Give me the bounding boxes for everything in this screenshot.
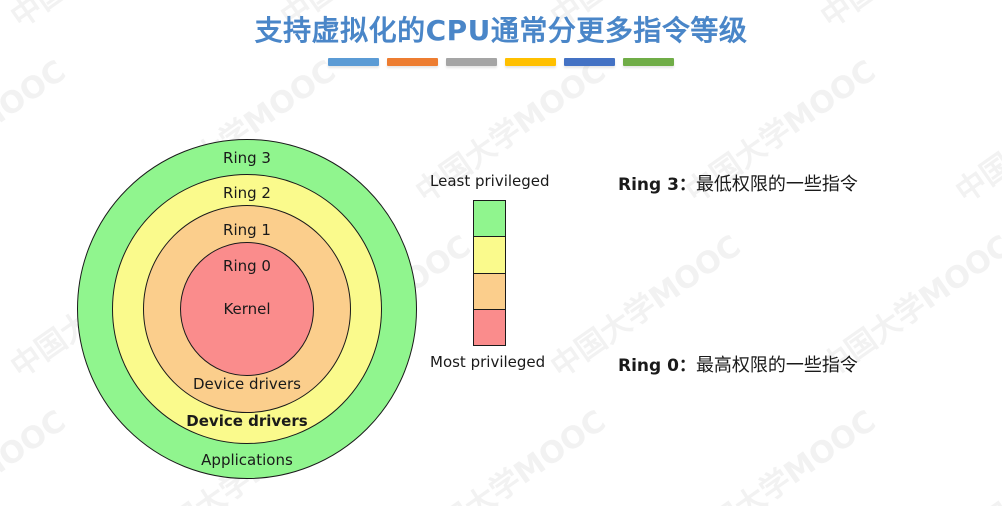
- watermark-text: 中国大学MOOC: [405, 397, 613, 506]
- note-ring-3-value: 最低权限的一些指令: [696, 174, 858, 195]
- note-ring-0-key: Ring 0：: [618, 356, 696, 376]
- title-bar-6: [623, 58, 674, 66]
- title-bar-4: [505, 58, 556, 66]
- page-title: 支持虚拟化的CPU通常分更多指令等级: [0, 14, 1002, 48]
- applications-label: Applications: [77, 451, 417, 469]
- title-bar-1: [328, 58, 379, 66]
- note-ring-0: Ring 0：最高权限的一些指令: [618, 355, 858, 378]
- title-bar-5: [564, 58, 615, 66]
- legend-cell-green: [474, 201, 505, 237]
- title-underline-bars: [0, 58, 1002, 66]
- note-ring-3: Ring 3：最低权限的一些指令: [618, 174, 858, 197]
- legend-cell-red: [474, 310, 505, 345]
- privilege-legend: Least privileged Most privileged: [430, 172, 550, 371]
- device-drivers-outer-label: Device drivers: [77, 412, 417, 430]
- watermark-text: 中国大学MOOC: [675, 397, 883, 506]
- ring-0-label: Ring 0: [77, 257, 417, 275]
- watermark-text: 中国大学MOOC: [945, 47, 1002, 211]
- kernel-label: Kernel: [77, 300, 417, 318]
- watermark-text: 中国大学MOOC: [0, 397, 73, 506]
- ring-3-label: Ring 3: [77, 149, 417, 167]
- privilege-rings-diagram: Ring 3 Ring 2 Ring 1 Ring 0 Kernel Devic…: [77, 139, 417, 479]
- legend-color-bar: [473, 200, 506, 346]
- watermark-text: 中国大学MOOC: [945, 397, 1002, 506]
- watermark-text: 中国大学MOOC: [0, 47, 73, 211]
- legend-cell-orange: [474, 274, 505, 310]
- note-ring-3-key: Ring 3：: [618, 175, 696, 195]
- title-bar-2: [387, 58, 438, 66]
- legend-most-privileged-label: Most privileged: [430, 353, 550, 371]
- device-drivers-inner-label: Device drivers: [77, 375, 417, 393]
- note-ring-0-value: 最高权限的一些指令: [696, 355, 858, 376]
- slide-canvas: 中国大学MOOC中国大学MOOC中国大学MOOC中国大学MOOC中国大学MOOC…: [0, 0, 1002, 506]
- legend-least-privileged-label: Least privileged: [430, 172, 550, 190]
- legend-cell-yellow: [474, 237, 505, 273]
- title-bar-3: [446, 58, 497, 66]
- title-block: 支持虚拟化的CPU通常分更多指令等级: [0, 14, 1002, 66]
- ring-2-label: Ring 2: [77, 184, 417, 202]
- ring-1-label: Ring 1: [77, 221, 417, 239]
